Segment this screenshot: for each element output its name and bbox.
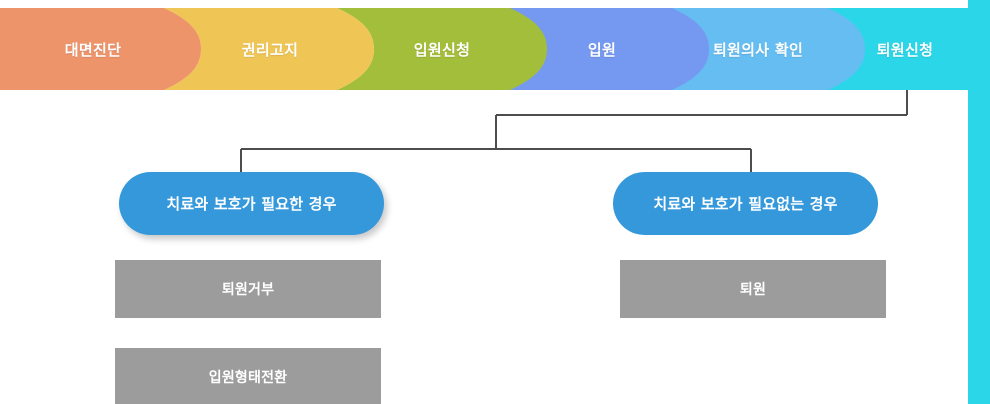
flowchart-canvas: 대면진단 권리고지 입원신청 입원 퇴원의사 확인 퇴원신청 치료와 보호가 필… <box>0 0 990 404</box>
outcome-box-change-admission-type-label: 입원형태전환 <box>209 367 287 387</box>
branch-node-treatment-not-needed[interactable]: 치료와 보호가 필요없는 경우 <box>613 172 878 235</box>
outcome-box-refuse-discharge-label: 퇴원거부 <box>222 279 274 299</box>
outcome-box-discharge-label: 퇴원 <box>740 279 766 299</box>
branch-node-treatment-needed[interactable]: 치료와 보호가 필요한 경우 <box>119 172 384 235</box>
outcome-box-change-admission-type[interactable]: 입원형태전환 <box>115 348 381 404</box>
branch-node-treatment-needed-label: 치료와 보호가 필요한 경우 <box>166 193 336 214</box>
outcome-box-refuse-discharge[interactable]: 퇴원거부 <box>115 260 381 318</box>
process-step-bar <box>0 8 974 90</box>
chevron-shape-step-1[interactable] <box>0 8 201 90</box>
outcome-box-discharge[interactable]: 퇴원 <box>620 260 886 318</box>
branch-node-treatment-not-needed-label: 치료와 보호가 필요없는 경우 <box>653 193 837 214</box>
